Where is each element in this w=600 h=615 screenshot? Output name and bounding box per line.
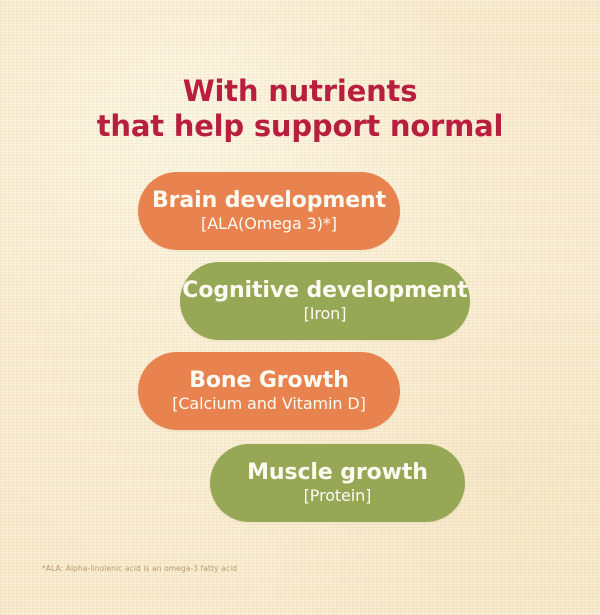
benefit-pill-bone-growth: Bone Growth [Calcium and Vitamin D] <box>138 352 400 430</box>
page-title-line-1: With nutrients <box>0 74 600 109</box>
benefit-title: Muscle growth <box>247 460 428 485</box>
benefit-nutrient: [ALA(Omega 3)*] <box>201 214 337 234</box>
benefit-pill-muscle-growth: Muscle growth [Protein] <box>210 444 465 522</box>
benefit-title: Brain development <box>152 188 386 213</box>
benefit-nutrient: [Iron] <box>304 304 347 324</box>
benefit-pill-cognitive-development: Cognitive development [Iron] <box>180 262 470 340</box>
benefit-title: Bone Growth <box>189 368 349 393</box>
page-title: With nutrients that help support normal <box>0 74 600 144</box>
infographic-canvas: With nutrients that help support normal … <box>0 0 600 615</box>
benefit-nutrient: [Protein] <box>304 486 372 506</box>
footnote-ala-definition: *ALA: Alpha-linolenic acid is an omega-3… <box>42 563 237 574</box>
benefit-nutrient: [Calcium and Vitamin D] <box>172 394 366 414</box>
page-title-line-2: that help support normal <box>0 109 600 144</box>
benefit-title: Cognitive development <box>182 278 467 303</box>
benefit-pill-brain-development: Brain development [ALA(Omega 3)*] <box>138 172 400 250</box>
